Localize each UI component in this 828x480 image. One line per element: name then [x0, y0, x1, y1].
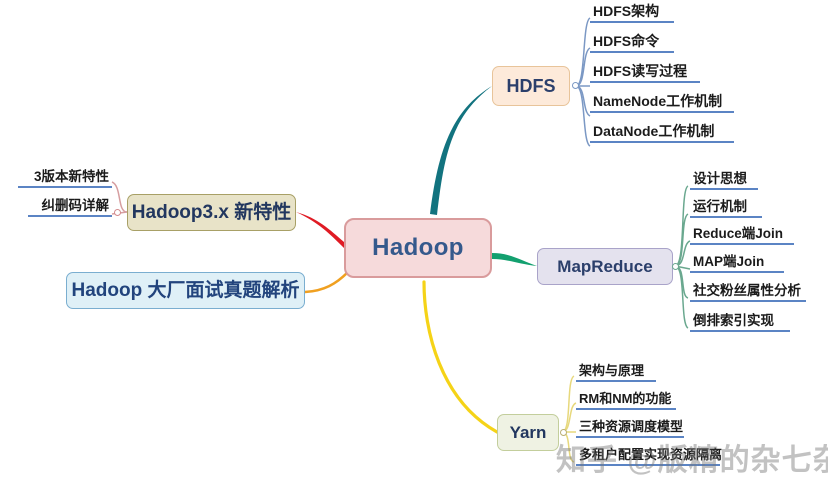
edge-root-interview [305, 272, 348, 292]
socket-yarn [560, 429, 567, 436]
node-hadoop3x-label: Hadoop3.x 新特性 [132, 203, 291, 222]
node-hdfs-label: HDFS [507, 77, 556, 95]
leaf-hdfs-4[interactable]: NameNode工作机制 [590, 94, 734, 113]
node-hadoop3x[interactable]: Hadoop3.x 新特性 [127, 194, 296, 231]
leaf-hdfs-5[interactable]: DataNode工作机制 [590, 124, 734, 143]
leaf-hadoop3x-1[interactable]: 3版本新特性 [18, 170, 112, 188]
edge-root-mapreduce [492, 253, 537, 266]
edge-group-yarn-children [562, 376, 576, 462]
leaf-hadoop3x-2[interactable]: 纠删码详解 [28, 199, 112, 217]
edge-root-hadoop3x [296, 212, 344, 248]
node-yarn[interactable]: Yarn [497, 414, 559, 451]
leaf-hdfs-2[interactable]: HDFS命令 [590, 34, 674, 53]
edge-group-mapreduce-children [675, 186, 690, 328]
edge-group-hdfs-children [576, 18, 590, 146]
leaf-yarn-3[interactable]: 三种资源调度模型 [576, 420, 684, 438]
leaf-mapreduce-3[interactable]: Reduce端Join [690, 227, 794, 245]
node-yarn-label: Yarn [510, 424, 547, 441]
edge-root-yarn [424, 282, 497, 432]
leaf-yarn-1[interactable]: 架构与原理 [576, 364, 656, 382]
leaf-mapreduce-4[interactable]: MAP端Join [690, 255, 784, 273]
leaf-mapreduce-1[interactable]: 设计思想 [690, 172, 758, 190]
socket-hdfs [572, 82, 579, 89]
node-interview-label: Hadoop 大厂面试真题解析 [72, 281, 300, 300]
socket-mapreduce [672, 263, 679, 270]
leaf-yarn-4[interactable]: 多租户配置实现资源隔离 [576, 448, 720, 466]
node-root[interactable]: Hadoop [344, 218, 492, 278]
leaf-mapreduce-6[interactable]: 倒排索引实现 [690, 314, 790, 332]
node-root-label: Hadoop [372, 236, 464, 260]
node-mapreduce[interactable]: MapReduce [537, 248, 673, 285]
mindmap-canvas: Hadoop HDFS HDFS架构 HDFS命令 HDFS读写过程 NameN… [0, 0, 828, 480]
socket-hadoop3x [114, 209, 121, 216]
leaf-hdfs-1[interactable]: HDFS架构 [590, 4, 674, 23]
leaf-mapreduce-2[interactable]: 运行机制 [690, 200, 762, 218]
node-mapreduce-label: MapReduce [557, 258, 652, 275]
leaf-mapreduce-5[interactable]: 社交粉丝属性分析 [690, 284, 806, 302]
leaf-yarn-2[interactable]: RM和NM的功能 [576, 392, 676, 410]
leaf-hdfs-3[interactable]: HDFS读写过程 [590, 64, 700, 83]
node-interview[interactable]: Hadoop 大厂面试真题解析 [66, 272, 305, 309]
edge-root-hdfs [430, 86, 492, 215]
node-hdfs[interactable]: HDFS [492, 66, 570, 106]
